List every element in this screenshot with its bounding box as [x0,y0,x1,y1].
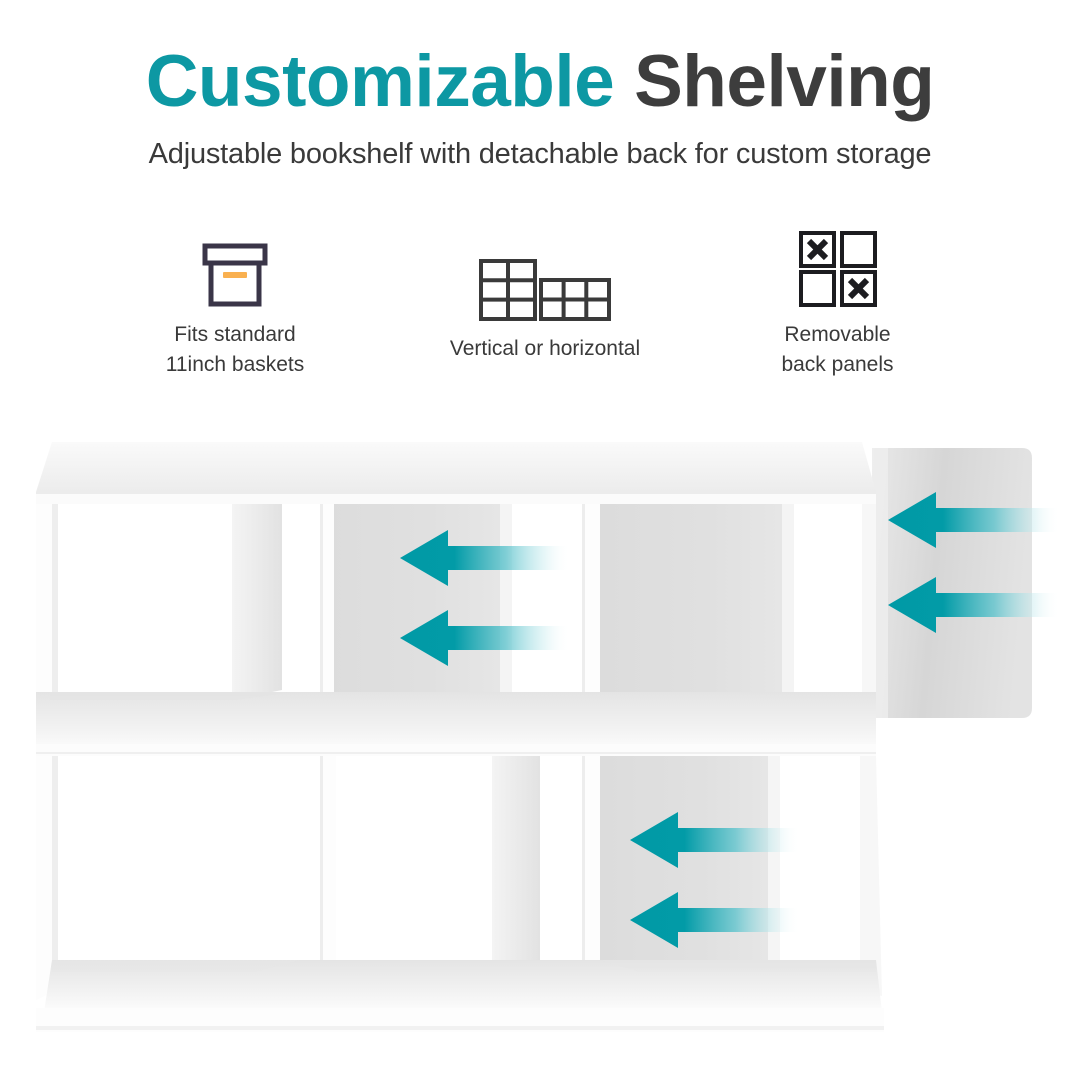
cube-upper-middle [322,504,582,704]
cube-lower-middle [334,756,584,972]
feature-removable-panels-label: Removable back panels [735,320,940,381]
infographic-page: Customizable Shelving Adjustable bookshe… [0,0,1080,1080]
feature-fits-baskets-label: Fits standard 11inch baskets [125,320,345,381]
cube-lower-left [50,756,322,972]
cube-lower-right [600,756,868,972]
header-block: Customizable Shelving Adjustable bookshe… [0,0,1080,171]
feature-removable-panels: Removable back panels [735,232,940,381]
product-illustration [0,400,1080,1080]
feature-orientation-label: Vertical or horizontal [425,334,665,364]
page-title-accent: Customizable [146,41,634,122]
feature-row: Fits standard 11inch baskets [0,232,1080,392]
page-title-rest: Shelving [634,41,934,122]
feature-orientation: Vertical or horizontal [425,246,665,364]
removable-panels-icon [735,232,940,308]
page-subtitle: Adjustable bookshelf with detachable bac… [0,120,1080,171]
vertical-horizontal-grid-icon [425,246,665,322]
feature-fits-baskets: Fits standard 11inch baskets [125,232,345,381]
storage-box-icon [125,232,345,308]
page-title: Customizable Shelving [0,0,1080,120]
cube-upper-left [50,504,320,704]
middle-shelf-deck [36,692,876,756]
cube-upper-right [600,504,868,704]
bottom-shelf-deck [36,960,884,1032]
shelf-top-surface [36,442,876,504]
detached-back-panel [872,448,1032,718]
